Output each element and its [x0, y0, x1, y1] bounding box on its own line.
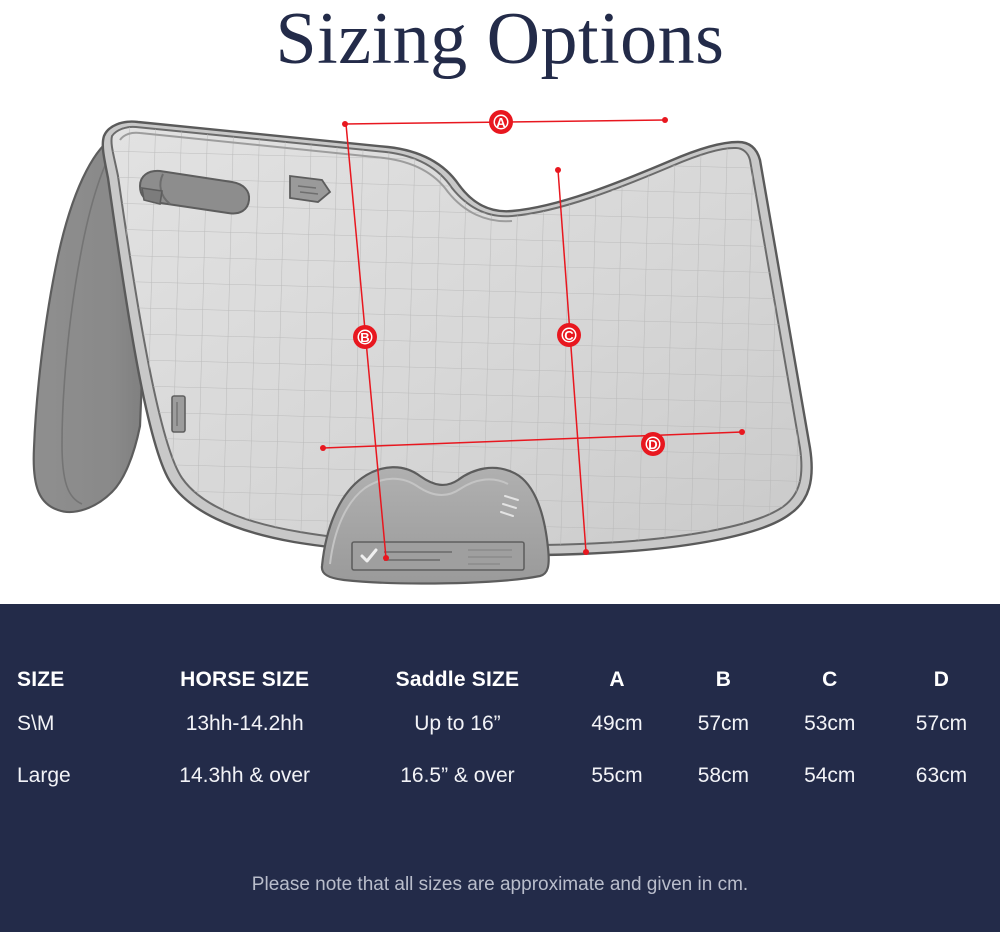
marker-a-label: A [496, 115, 506, 130]
marker-b-label: B [360, 330, 369, 345]
column-header-d: D [883, 604, 1000, 698]
size-table-body: S\M 13hh-14.2hh Up to 16” 49cm 57cm 53cm… [0, 698, 1000, 802]
marker-b: B [353, 325, 377, 349]
cell-d: 63cm [883, 750, 1000, 802]
size-table: SIZE HORSE SIZE Saddle SIZE A B C D S\M … [0, 604, 1000, 802]
column-header-size: SIZE [0, 604, 138, 698]
column-header-c: C [777, 604, 883, 698]
diagram-section: Sizing Options [0, 0, 1000, 604]
sizing-table-section: SIZE HORSE SIZE Saddle SIZE A B C D S\M … [0, 604, 1000, 932]
pad-care-label [352, 542, 524, 570]
column-header-b: B [670, 604, 776, 698]
cell-c: 53cm [777, 698, 883, 750]
column-header-saddle-size: Saddle SIZE [351, 604, 564, 698]
marker-a: A [489, 110, 513, 134]
size-table-head: SIZE HORSE SIZE Saddle SIZE A B C D [0, 604, 1000, 698]
cell-size: S\M [0, 698, 138, 750]
marker-c: C [557, 323, 581, 347]
page-title: Sizing Options [0, 0, 1000, 82]
cell-saddle-size: Up to 16” [351, 698, 564, 750]
cell-horse-size: 13hh-14.2hh [138, 698, 351, 750]
cell-b: 57cm [670, 698, 776, 750]
marker-d-label: D [648, 437, 657, 452]
saddle-pad-illustration: A B C [0, 96, 1000, 596]
cell-d: 57cm [883, 698, 1000, 750]
pad-side-label [172, 396, 185, 432]
marker-c-label: C [564, 328, 574, 343]
saddle-pad-diagram: A B C [0, 96, 1000, 596]
cell-b: 58cm [670, 750, 776, 802]
cell-horse-size: 14.3hh & over [138, 750, 351, 802]
cell-saddle-size: 16.5” & over [351, 750, 564, 802]
footer-note: Please note that all sizes are approxima… [0, 874, 1000, 896]
table-row: S\M 13hh-14.2hh Up to 16” 49cm 57cm 53cm… [0, 698, 1000, 750]
table-row: Large 14.3hh & over 16.5” & over 55cm 58… [0, 750, 1000, 802]
pad-saddle-panel [322, 467, 549, 583]
column-header-horse-size: HORSE SIZE [138, 604, 351, 698]
cell-a: 55cm [564, 750, 670, 802]
sizing-options-page: Sizing Options [0, 0, 1000, 932]
cell-size: Large [0, 750, 138, 802]
cell-a: 49cm [564, 698, 670, 750]
table-header-row: SIZE HORSE SIZE Saddle SIZE A B C D [0, 604, 1000, 698]
cell-c: 54cm [777, 750, 883, 802]
column-header-a: A [564, 604, 670, 698]
marker-d: D [641, 432, 665, 456]
